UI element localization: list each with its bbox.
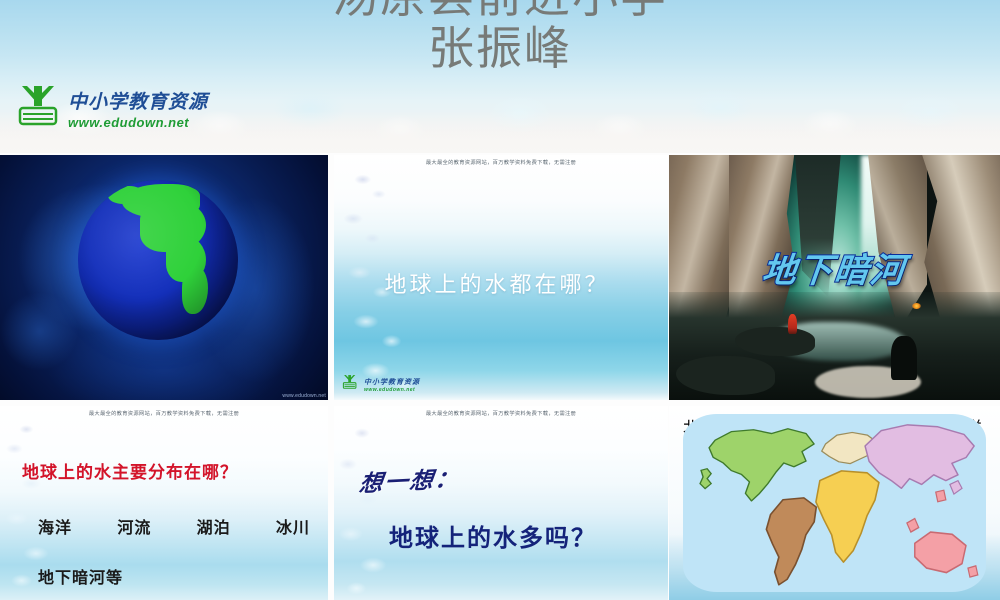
download-arrow-book-icon [16,84,62,133]
logo-url-text: www.edudown.net [68,115,208,130]
person-figure [891,336,917,380]
floral-decoration [334,406,474,600]
list-item: 湖泊 [197,514,231,538]
slide-water-distribution[interactable]: 最大最全的教育资源网站，百万教学资料免费下载，无需注册 地球上的水主要分布在哪？… [0,406,328,600]
title-line-1: 汤原县前进小学 [0,0,1000,22]
slide-think-about-it[interactable]: 最大最全的教育资源网站，百万教学资料免费下载，无需注册 想一想： 地球上的水多吗… [334,406,668,600]
edudown-logo[interactable]: 中小学教育资源 www.edudown.net [16,84,208,133]
world-map-image: 北美洲 夏威夷 南美洲 欧洲 非洲 亚洲 大洋洲 [683,414,986,592]
site-watermark: 最大最全的教育资源网站，百万教学资料免费下载，无需注册 [341,409,662,417]
corner-watermark: www.edudown.net [282,393,326,399]
earth-globe-icon [78,180,238,340]
logo-cn-text: 中小学教育资源 [68,87,208,114]
slide-where-is-water[interactable]: 最大最全的教育资源网站，百万教学资料免费下载，无需注册 地球上的水都在哪？ 中小… [334,155,668,400]
slide-question-text: 地球上的水都在哪？ [334,267,660,299]
logo-url-text: www.edudown.net [364,387,420,393]
site-watermark: 最大最全的教育资源网站，百万教学资料免费下载，无需注册 [341,158,662,166]
logo-cn-text: 中小学教育资源 [364,377,420,387]
list-item: 地下暗河等 [38,564,123,588]
title-slide-banner: 汤原县前进小学 张振峰 中小学教育资源 www.edudown.net [0,0,1000,153]
slide-world-map[interactable]: 北美洲 夏威夷 南美洲 欧洲 非洲 亚洲 大洋洲 [669,406,1000,600]
edudown-logo[interactable]: 中小学教育资源 www.edudown.net [342,374,420,395]
page-title: 汤原县前进小学 张振峰 [0,0,1000,73]
globe-shading [78,180,238,340]
slide-question-text: 地球上的水多吗？ [334,518,652,553]
download-arrow-book-icon [342,374,358,395]
list-item: 海洋 [38,514,72,538]
water-body-list-row-1: 海洋 河流 湖泊 冰川 [38,514,310,538]
list-item: 冰川 [276,514,310,538]
person-figure [788,314,797,334]
slide-earth-globe[interactable]: www.edudown.net [0,155,328,400]
list-item: 河流 [117,514,151,538]
continent-hawaii [695,467,719,492]
slide-underground-river[interactable]: 地下暗河 [669,155,1000,400]
continent-oceania [901,514,980,582]
slide-heading-text: 地球上的水主要分布在哪？ [22,458,238,483]
slide-title-text: 地下暗河 [669,243,1000,292]
boulder [735,327,814,356]
site-watermark: 最大最全的教育资源网站，百万教学资料免费下载，无需注册 [7,409,322,417]
continent-asia [859,421,980,517]
slide-thumbnail-page: 汤原县前进小学 张振峰 中小学教育资源 www.edudown.net [0,0,1000,600]
think-prompt-text: 想一想： [358,459,463,498]
